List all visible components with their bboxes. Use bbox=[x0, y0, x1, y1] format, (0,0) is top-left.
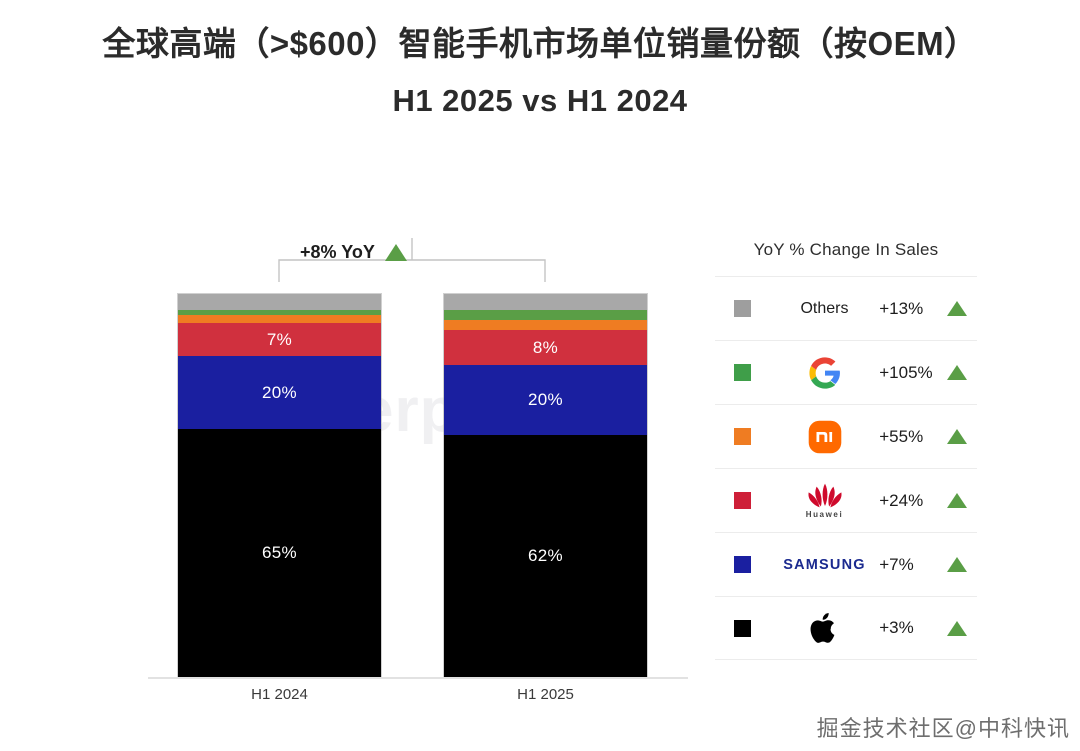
legend-swatch-apple-cell bbox=[715, 620, 770, 637]
legend-swatch-others bbox=[734, 300, 751, 317]
legend-title: YoY % Change In Sales bbox=[715, 240, 977, 276]
growth-bracket bbox=[0, 230, 700, 300]
x-tick-label-2024: H1 2024 bbox=[178, 686, 381, 703]
segment-apple-2025: 62% bbox=[444, 435, 647, 677]
apple-logo-icon bbox=[810, 610, 840, 646]
chart-page: 全球高端（>$600）智能手机市场单位销量份额（按OEM） H1 2025 vs… bbox=[0, 0, 1080, 751]
page-title: 全球高端（>$600）智能手机市场单位销量份额（按OEM） bbox=[70, 18, 1010, 69]
legend-swatch-samsung bbox=[734, 556, 751, 573]
title-block: 全球高端（>$600）智能手机市场单位销量份额（按OEM） H1 2025 vs… bbox=[70, 18, 1010, 119]
legend-row-google[interactable]: +105% bbox=[715, 340, 977, 404]
legend-brand-huawei: Huawei bbox=[770, 482, 880, 519]
legend-brand-google bbox=[770, 356, 880, 390]
legend-swatch-xiaomi-cell bbox=[715, 428, 770, 445]
segment-google-2025 bbox=[444, 310, 647, 320]
legend-row-huawei[interactable]: Huawei +24% bbox=[715, 468, 977, 532]
legend-row-samsung[interactable]: SAMSUNG +7% bbox=[715, 532, 977, 596]
legend-swatch-samsung-cell bbox=[715, 556, 770, 573]
segment-samsung-2024: 20% bbox=[178, 356, 381, 429]
legend-swatch-apple bbox=[734, 620, 751, 637]
legend-panel: YoY % Change In Sales Others +13% bbox=[715, 240, 977, 660]
legend-arrow-google-cell bbox=[938, 365, 977, 380]
bar-h1-2024[interactable]: 7% 20% 65% bbox=[178, 294, 381, 677]
chart-area: Counterpoint +8% YoY 7% 20% 65% bbox=[0, 230, 700, 730]
legend-change-samsung: +7% bbox=[879, 555, 938, 575]
legend-swatch-others-cell bbox=[715, 300, 770, 317]
legend-swatch-xiaomi bbox=[734, 428, 751, 445]
triangle-up-icon bbox=[947, 621, 967, 636]
xiaomi-logo-icon bbox=[808, 420, 842, 454]
legend-change-apple: +3% bbox=[879, 618, 938, 638]
samsung-logo-icon: SAMSUNG bbox=[783, 557, 866, 573]
triangle-up-icon bbox=[947, 557, 967, 572]
triangle-up-icon bbox=[385, 244, 407, 261]
segment-xiaomi-2025 bbox=[444, 320, 647, 330]
bar-h1-2025[interactable]: 8% 20% 62% bbox=[444, 294, 647, 677]
legend-change-xiaomi: +55% bbox=[879, 427, 938, 447]
legend-arrow-apple-cell bbox=[938, 621, 977, 636]
legend-brand-xiaomi bbox=[770, 420, 880, 454]
legend-row-xiaomi[interactable]: +55% bbox=[715, 404, 977, 468]
legend-swatch-google-cell bbox=[715, 364, 770, 381]
legend-arrow-samsung-cell bbox=[938, 557, 977, 572]
legend-arrow-others-cell bbox=[938, 301, 977, 316]
legend-arrow-huawei-cell bbox=[938, 493, 977, 508]
legend-change-others: +13% bbox=[879, 299, 938, 319]
legend-swatch-google bbox=[734, 364, 751, 381]
segment-huawei-2024: 7% bbox=[178, 323, 381, 356]
segment-apple-2024: 65% bbox=[178, 429, 381, 677]
yoy-annotation: +8% YoY bbox=[300, 242, 407, 263]
legend-row-apple[interactable]: +3% bbox=[715, 596, 977, 660]
legend-swatch-huawei-cell bbox=[715, 492, 770, 509]
triangle-up-icon bbox=[947, 493, 967, 508]
google-logo-icon bbox=[808, 356, 842, 390]
bottom-watermark: 掘金技术社区@中科快讯 bbox=[817, 711, 1070, 743]
legend-arrow-xiaomi-cell bbox=[938, 429, 977, 444]
triangle-up-icon bbox=[947, 365, 967, 380]
legend-brand-samsung: SAMSUNG bbox=[770, 557, 880, 573]
page-subtitle: H1 2025 vs H1 2024 bbox=[70, 83, 1010, 119]
x-tick-label-2025: H1 2025 bbox=[444, 686, 647, 703]
yoy-annotation-label: +8% YoY bbox=[300, 242, 375, 263]
segment-samsung-2025: 20% bbox=[444, 365, 647, 435]
legend-brand-others: Others bbox=[770, 300, 880, 318]
segment-huawei-2025: 8% bbox=[444, 330, 647, 365]
x-axis-line bbox=[148, 677, 688, 679]
legend-row-others[interactable]: Others +13% bbox=[715, 276, 977, 340]
segment-xiaomi-2024 bbox=[178, 315, 381, 323]
huawei-logo-group: Huawei bbox=[805, 482, 845, 519]
legend-change-huawei: +24% bbox=[879, 491, 938, 511]
legend-brand-label-others: Others bbox=[800, 300, 848, 318]
triangle-up-icon bbox=[947, 301, 967, 316]
legend-change-google: +105% bbox=[879, 363, 938, 383]
legend-swatch-huawei bbox=[734, 492, 751, 509]
huawei-logo-icon bbox=[805, 482, 845, 508]
legend-brand-apple bbox=[770, 610, 880, 646]
triangle-up-icon bbox=[947, 429, 967, 444]
huawei-wordmark: Huawei bbox=[806, 510, 844, 519]
